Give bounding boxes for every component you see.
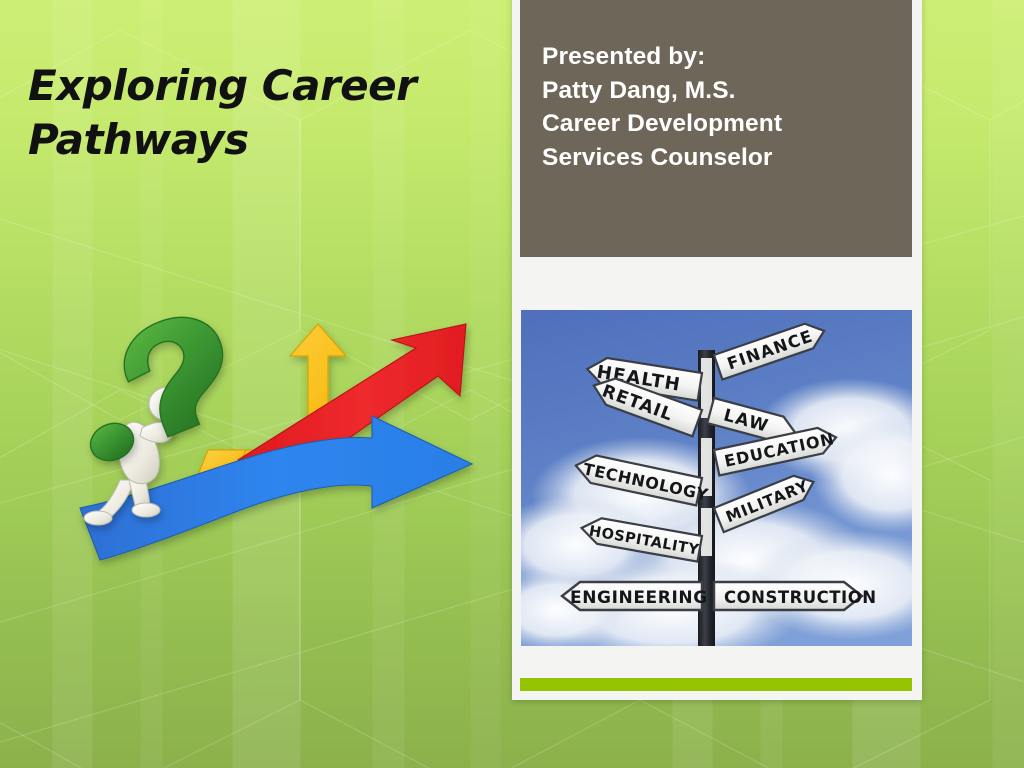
sign-engineering: ENGINEERING [562, 582, 708, 610]
slide-title: Exploring Career Pathways [28, 59, 488, 167]
slide-canvas: Exploring Career Pathways [0, 0, 1024, 768]
presenter-info-box: Presented by: Patty Dang, M.S. Career De… [520, 0, 912, 257]
career-signpost-photo: FINANCE HEALTH LAW RETAIL [521, 310, 912, 646]
svg-text:CONSTRUCTION: CONSTRUCTION [724, 588, 877, 607]
presenter-text: Presented by: Patty Dang, M.S. Career De… [542, 40, 912, 174]
svg-text:ENGINEERING: ENGINEERING [570, 588, 708, 608]
question-mark-icon [85, 303, 246, 466]
career-path-illustration [70, 296, 490, 592]
green-accent-bar [520, 678, 912, 691]
